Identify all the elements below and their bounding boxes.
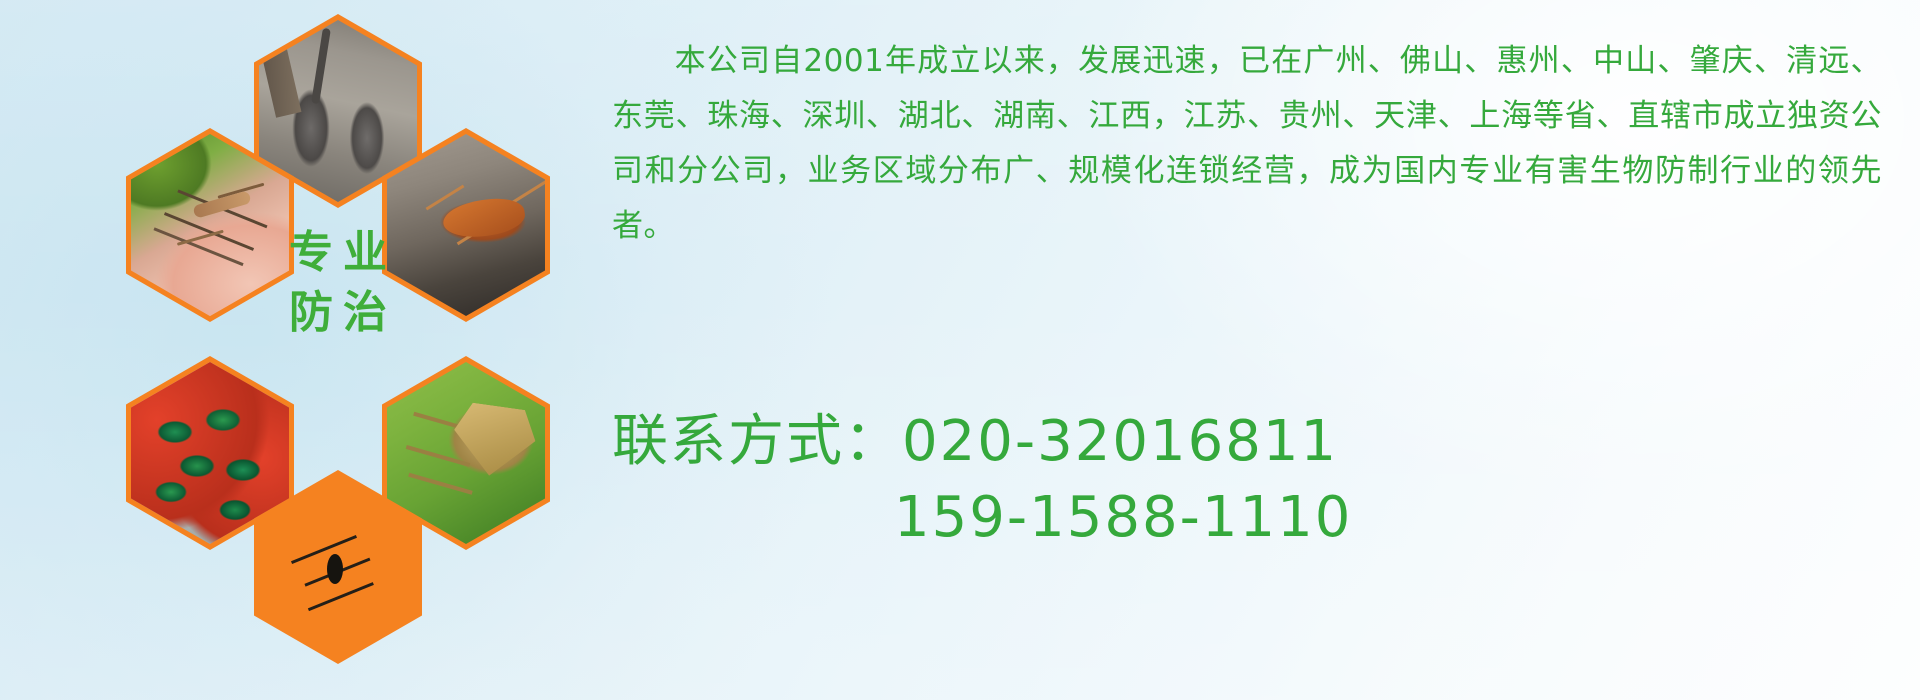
hexagon-photo-cluster: 专业 防治 — [86, 8, 586, 568]
contact-secondary-line[interactable]: 159-1588-1110 — [612, 480, 1882, 556]
contact-primary-line[interactable]: 联系方式：020-32016811 — [612, 404, 1882, 480]
badge-slogan: 专业 防治 — [254, 186, 422, 380]
badge-slogan-line-2: 防治 — [279, 290, 397, 336]
badge-slogan-line-1: 专业 — [279, 230, 397, 276]
contact-block: 联系方式：020-32016811 159-1588-1110 — [612, 404, 1882, 556]
company-intro-text: 本公司自2001年成立以来，发展迅速，已在广州、佛山、惠州、中山、肇庆、清远、东… — [612, 43, 1882, 244]
company-intro-block: 本公司自2001年成立以来，发展迅速，已在广州、佛山、惠州、中山、肇庆、清远、东… — [612, 34, 1882, 254]
pest-control-banner: 专业 防治 本公司自2001年成立以来，发展迅速，已在广州、佛山、惠州、中山、肇… — [0, 0, 1920, 700]
company-intro-paragraph: 本公司自2001年成立以来，发展迅速，已在广州、佛山、惠州、中山、肇庆、清远、东… — [612, 34, 1882, 254]
